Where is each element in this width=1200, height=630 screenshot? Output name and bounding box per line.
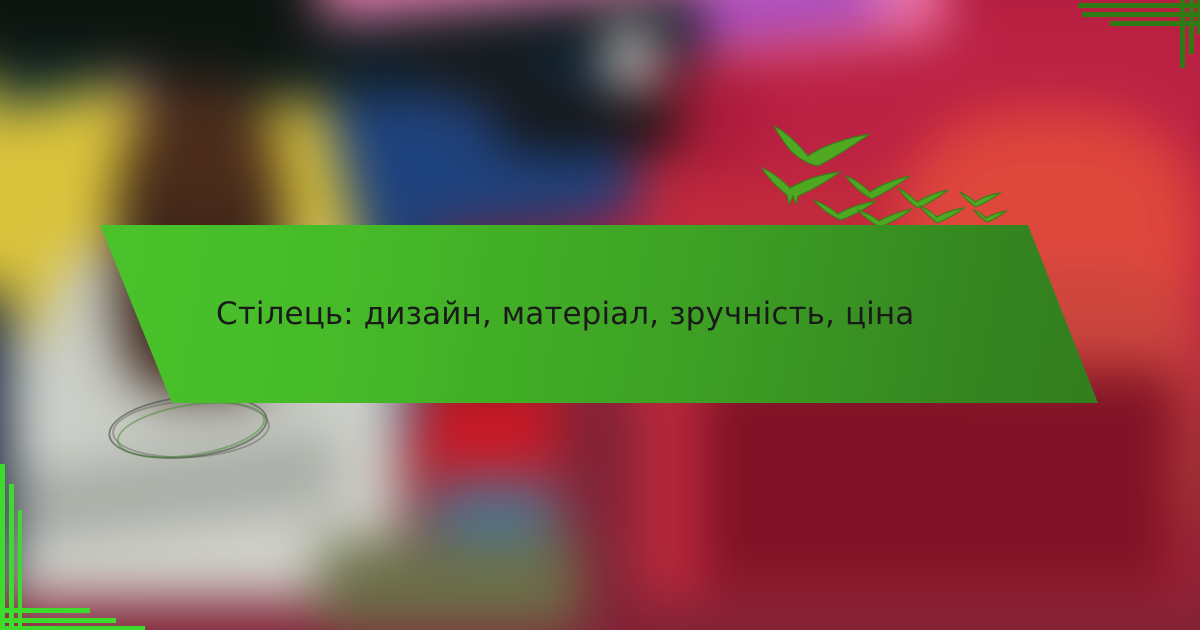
bg-shape-person-head <box>135 85 275 225</box>
title-banner: Стілець: дизайн, матеріал, зручність, ці… <box>0 225 1200 403</box>
bg-shape-maroon <box>700 370 1180 590</box>
bg-shape-dark-top <box>0 0 320 70</box>
corner-grid-lines-top-right-icon <box>1050 0 1200 100</box>
corner-grid-lines-bottom-left-icon <box>0 440 170 630</box>
bg-shape-white-object <box>610 28 652 86</box>
social-card: Стілець: дизайн, матеріал, зручність, ці… <box>0 0 1200 630</box>
bg-shape-olive <box>320 540 580 630</box>
page-title: Стілець: дизайн, матеріал, зручність, ці… <box>216 296 914 332</box>
bg-shape-camera <box>500 90 680 150</box>
flying-birds-icon <box>760 112 1020 232</box>
